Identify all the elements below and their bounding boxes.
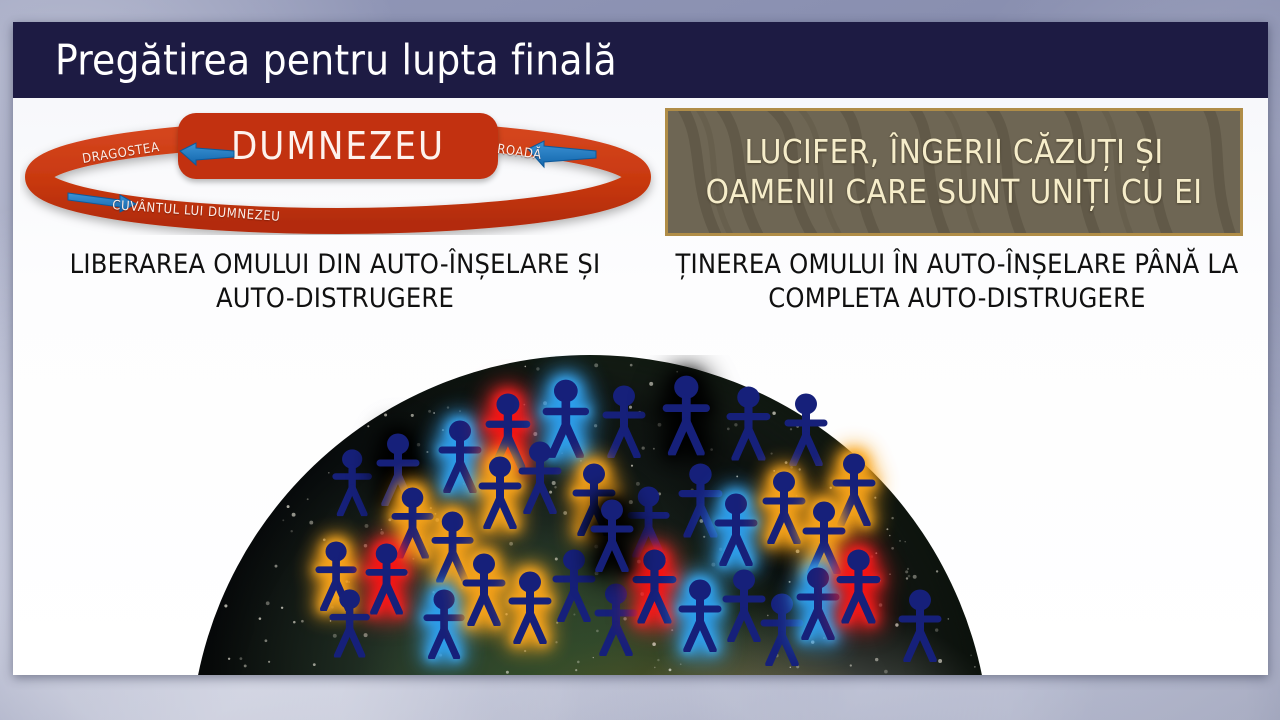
caption-right: ȚINEREA OMULUI ÎN AUTO-ÎNȘELARE PÂNĂ LA … <box>668 248 1246 316</box>
stick-figure <box>589 498 635 572</box>
dumnezeu-box: DUMNEZEU <box>178 113 498 179</box>
stick-figure <box>507 570 553 644</box>
stick-figure <box>631 548 678 623</box>
stick-figure <box>783 392 829 466</box>
stick-figure <box>897 588 943 662</box>
cycle-diagram: DUMNEZEU DRAGOSTEA ROADĂ <box>20 105 660 235</box>
stick-figure <box>835 548 882 623</box>
stick-figure <box>461 552 507 626</box>
caption-left: LIBERAREA OMULUI DIN AUTO-ÎNȘELARE ȘI AU… <box>40 248 630 316</box>
page-title: Pregătirea pentru lupta finală <box>55 36 617 85</box>
title-banner: Pregătirea pentru lupta finală <box>13 22 1268 98</box>
lucifer-headline: LUCIFER, ÎNGERII CĂZUȚI ȘI OAMENII CARE … <box>668 111 1240 233</box>
stick-figure <box>422 588 466 659</box>
stick-figure <box>331 448 373 516</box>
lucifer-headline-line1: LUCIFER, ÎNGERII CĂZUȚI ȘI <box>744 133 1163 171</box>
dumnezeu-label: DUMNEZEU <box>231 124 445 168</box>
stick-figure <box>677 578 723 652</box>
illustration-earth-crowd <box>190 355 990 675</box>
stick-figure <box>328 588 371 658</box>
stick-figure <box>725 385 772 460</box>
stick-figure <box>661 374 712 455</box>
lucifer-box: LUCIFER, ÎNGERII CĂZUȚI ȘI OAMENII CARE … <box>665 108 1243 236</box>
stick-figure <box>713 492 759 566</box>
lucifer-headline-line2: OAMENII CARE SUNT UNIȚI CU EI <box>706 173 1203 211</box>
stick-figure <box>517 440 563 514</box>
stick-figure <box>601 384 647 458</box>
slide-root: Pregătirea pentru lupta finală DUMNEZEU <box>0 0 1280 720</box>
